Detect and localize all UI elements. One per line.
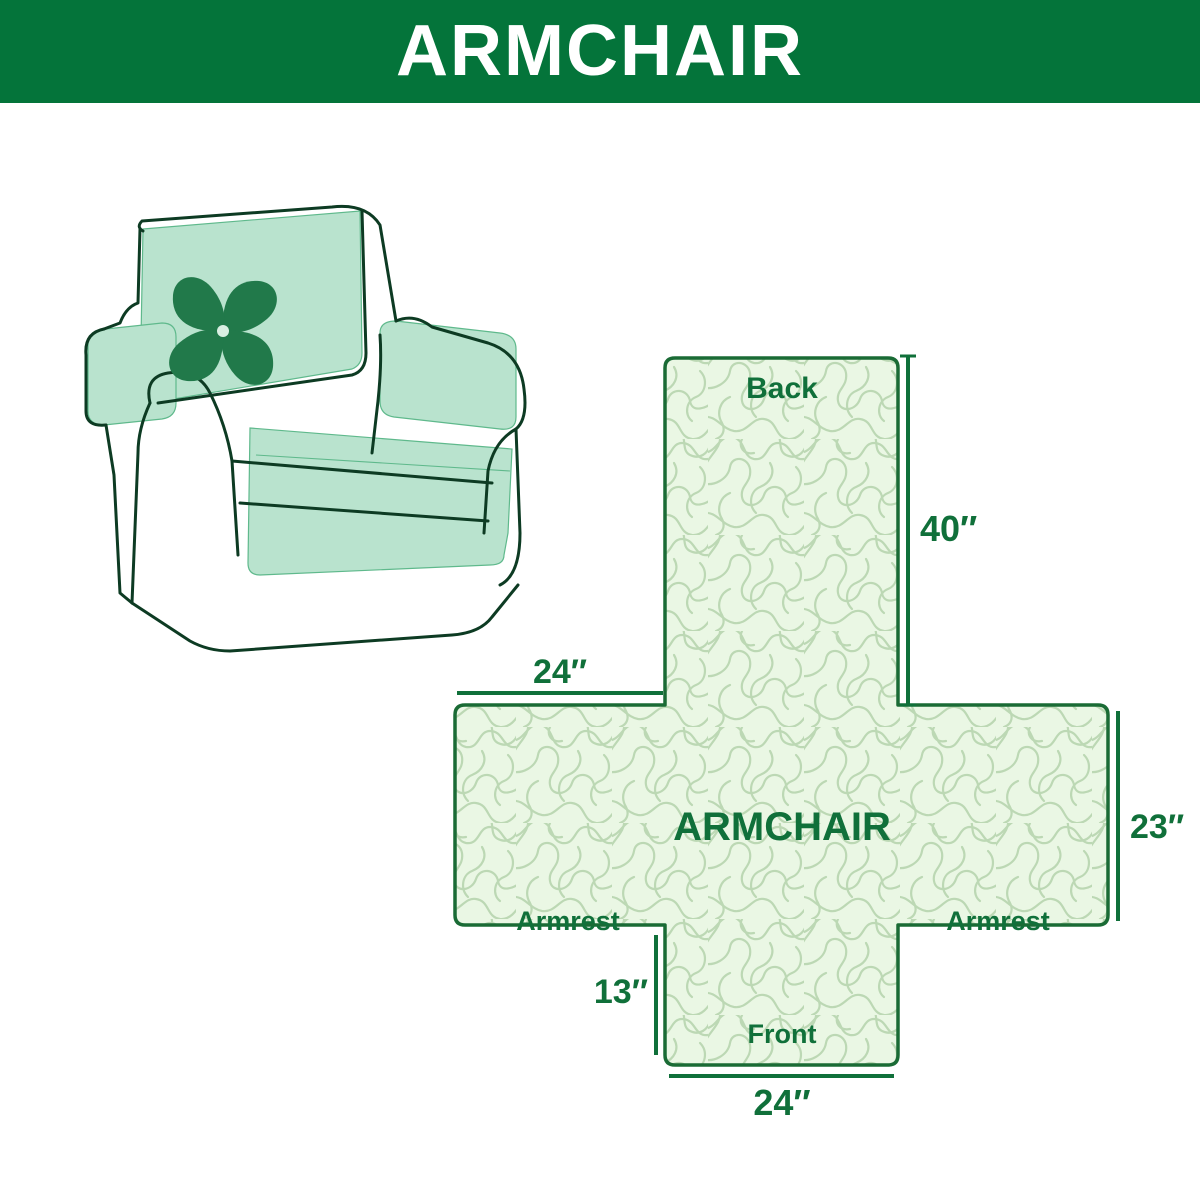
panel-label-back: Back — [746, 372, 818, 405]
dimension-label-front-height: 13″ — [594, 973, 648, 1011]
panel-label-armrest-right: Armrest — [946, 906, 1050, 936]
dimension-back-height: 40″ — [900, 356, 977, 705]
panel-label-armrest-left: Armrest — [516, 906, 620, 936]
panel-label-front: Front — [748, 1019, 817, 1049]
dimension-label-back-width: 24″ — [533, 653, 587, 691]
dimension-front-width: 24″ — [669, 1076, 894, 1123]
header-banner: ARMCHAIR — [0, 0, 1200, 103]
slipcover-pattern-diagram: Back Armrest ARMCHAIR Armrest Front 40″ … — [420, 343, 1200, 1203]
dimension-label-back-height: 40″ — [920, 508, 977, 549]
dimension-front-height: 13″ — [594, 935, 656, 1055]
dimension-back-width: 24″ — [457, 653, 663, 693]
slipcover-cross-shape — [455, 358, 1108, 1065]
page-title: ARMCHAIR — [396, 15, 804, 87]
dimension-label-center-height: 23″ — [1130, 808, 1184, 846]
dimension-label-front-width: 24″ — [753, 1082, 810, 1123]
diagram-stage: Back Armrest ARMCHAIR Armrest Front 40″ … — [0, 103, 1200, 1200]
dimension-center-height: 23″ — [1118, 711, 1184, 921]
panel-label-center: ARMCHAIR — [673, 805, 891, 849]
